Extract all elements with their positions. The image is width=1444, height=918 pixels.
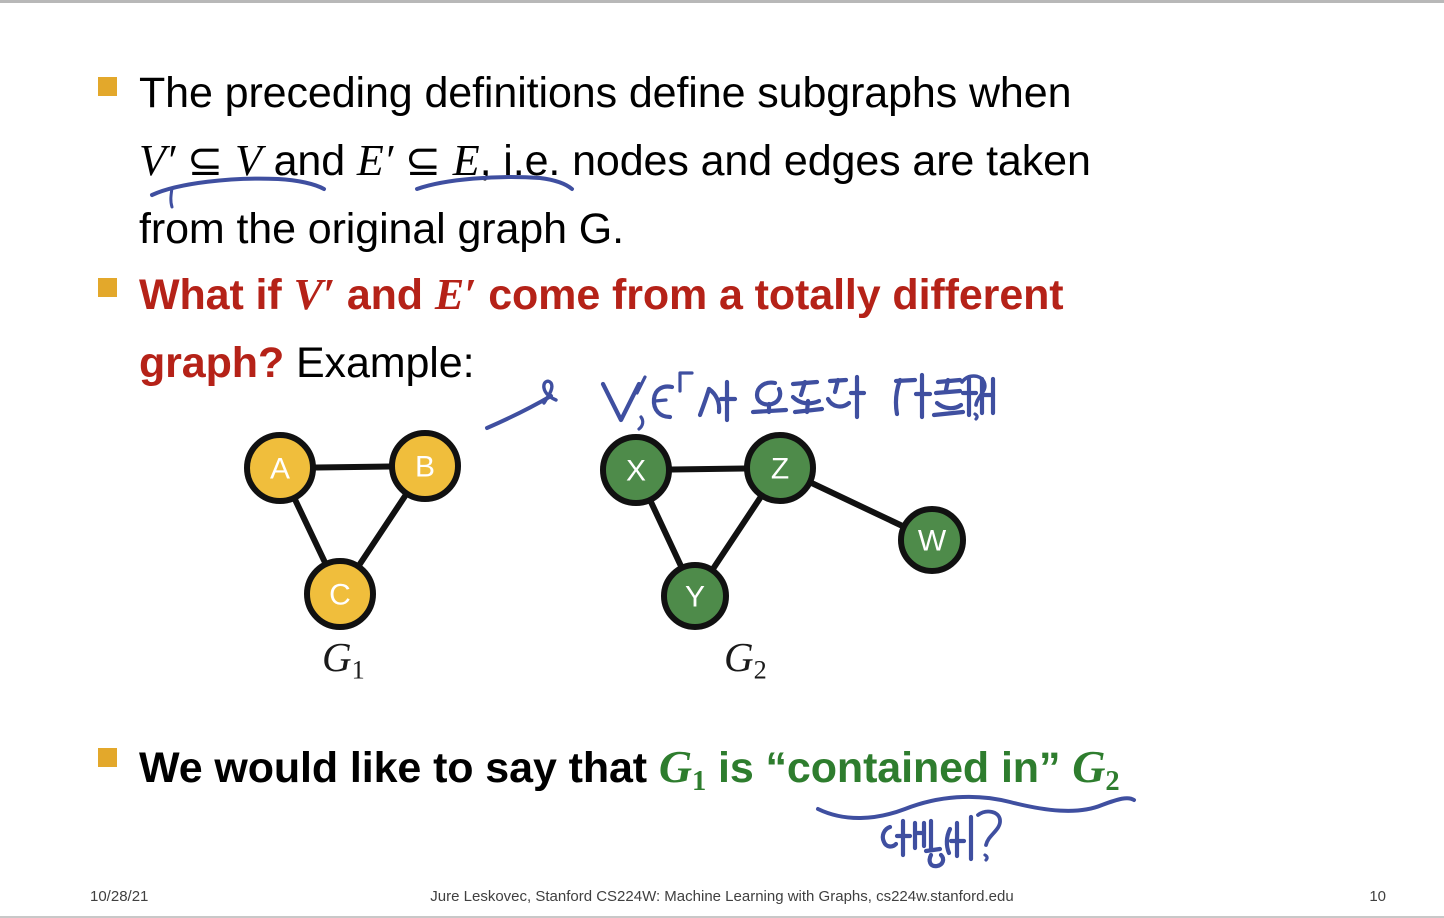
bullet-marker-icon bbox=[98, 77, 117, 96]
slide-footer: 10/28/21 Jure Leskovec, Stanford CS224W:… bbox=[0, 876, 1444, 918]
slide-canvas: The preceding definitions define subgrap… bbox=[0, 0, 1444, 918]
bullet-marker-icon bbox=[98, 278, 117, 297]
node-label-Z: Z bbox=[771, 453, 789, 486]
graph-figures-area: A B C X Z W Y bbox=[0, 398, 1444, 698]
footer-attribution: Jure Leskovec, Stanford CS224W: Machine … bbox=[0, 888, 1444, 905]
node-label-X: X bbox=[626, 455, 646, 488]
subset-symbol-2: ⊆ bbox=[393, 137, 453, 185]
bullet-1-line2-tail: , i.e. nodes and edges are taken bbox=[480, 137, 1091, 185]
math-v: V bbox=[235, 136, 262, 185]
bullet-3-text: We would like to say that G1 is “contain… bbox=[139, 731, 1120, 804]
node-label-A: A bbox=[270, 453, 290, 486]
and-word-1: and bbox=[262, 137, 357, 185]
bullet-marker-icon bbox=[98, 748, 117, 767]
node-label-C: C bbox=[329, 579, 351, 612]
bullet-item-1: The preceding definitions define subgrap… bbox=[98, 60, 1328, 263]
math-g2-green: G2 bbox=[1072, 741, 1119, 792]
node-label-Y: Y bbox=[685, 581, 705, 614]
math-e-prime: E′ bbox=[357, 136, 393, 185]
graph-label-g2: G2 bbox=[724, 633, 767, 685]
graph-label-g1: G1 bbox=[322, 633, 365, 685]
bullet-2-example-word: Example: bbox=[284, 339, 474, 387]
bullet-2-red-and: and bbox=[335, 271, 435, 319]
node-label-W: W bbox=[918, 525, 947, 558]
bullet-1-text: The preceding definitions define subgrap… bbox=[139, 60, 1091, 263]
math-v-prime-red: V′ bbox=[293, 270, 335, 319]
node-label-B: B bbox=[415, 451, 435, 484]
ink-note-bottom bbox=[883, 812, 1000, 867]
math-g1-green: G1 bbox=[659, 741, 706, 792]
bullet-3-green-mid: is “contained in” bbox=[706, 744, 1072, 792]
bullet-1-line3: from the original graph G. bbox=[139, 205, 624, 253]
bullet-3-lead: We would like to say that bbox=[139, 744, 659, 792]
math-e: E bbox=[453, 136, 480, 185]
subset-symbol-1: ⊆ bbox=[175, 137, 235, 185]
graphs-svg: A B C X Z W Y bbox=[0, 398, 1444, 698]
bullet-2-red-lead: What if bbox=[139, 271, 293, 319]
bullet-item-3: We would like to say that G1 is “contain… bbox=[98, 731, 1358, 804]
footer-page-number: 10 bbox=[1369, 888, 1386, 905]
bullet-2-red-graph: graph? bbox=[139, 339, 284, 387]
math-e-prime-red: E′ bbox=[435, 270, 477, 319]
math-v-prime: V′ bbox=[139, 136, 175, 185]
bullet-1-line1: The preceding definitions define subgrap… bbox=[139, 69, 1071, 117]
bullet-item-2: What if V′ and E′ come from a totally di… bbox=[98, 261, 1328, 397]
bullet-2-text: What if V′ and E′ come from a totally di… bbox=[139, 261, 1064, 397]
bullet-2-red-tail: come from a totally different bbox=[476, 271, 1063, 319]
